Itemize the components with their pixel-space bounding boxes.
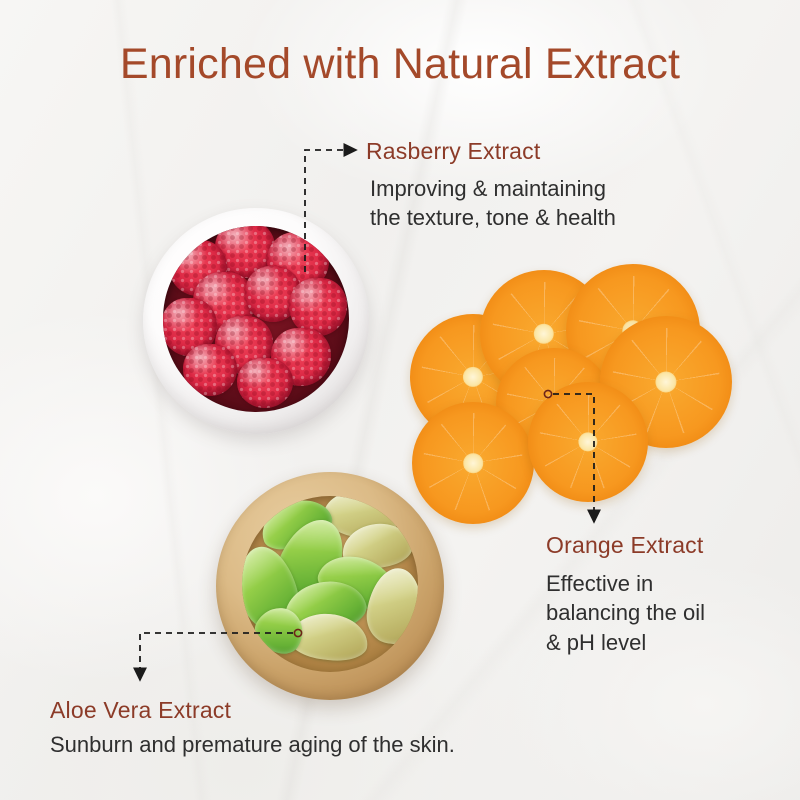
raspberry-bowl-interior (163, 226, 349, 412)
callout-orange: Orange Extract Effective in balancing th… (546, 532, 705, 657)
infographic-poster: Enriched with Natural Extract (0, 0, 800, 800)
callout-orange-heading: Orange Extract (546, 532, 705, 559)
aloe-bowl-image (216, 472, 444, 700)
callout-raspberry-body: Improving & maintaining the texture, ton… (370, 174, 616, 233)
aloe-bowl-interior (242, 496, 418, 672)
callout-aloe-heading: Aloe Vera Extract (50, 697, 455, 724)
callout-aloe-body: Sunburn and premature aging of the skin. (50, 730, 455, 759)
page-title: Enriched with Natural Extract (0, 40, 800, 89)
callout-raspberry-heading: Rasberry Extract (366, 138, 616, 165)
orange-slices-image (398, 262, 718, 512)
callout-aloe: Aloe Vera Extract Sunburn and premature … (50, 697, 455, 759)
callout-orange-body: Effective in balancing the oil & pH leve… (546, 569, 705, 657)
callout-raspberry: Rasberry Extract Improving & maintaining… (366, 138, 616, 233)
raspberry-bowl-image (143, 208, 369, 434)
